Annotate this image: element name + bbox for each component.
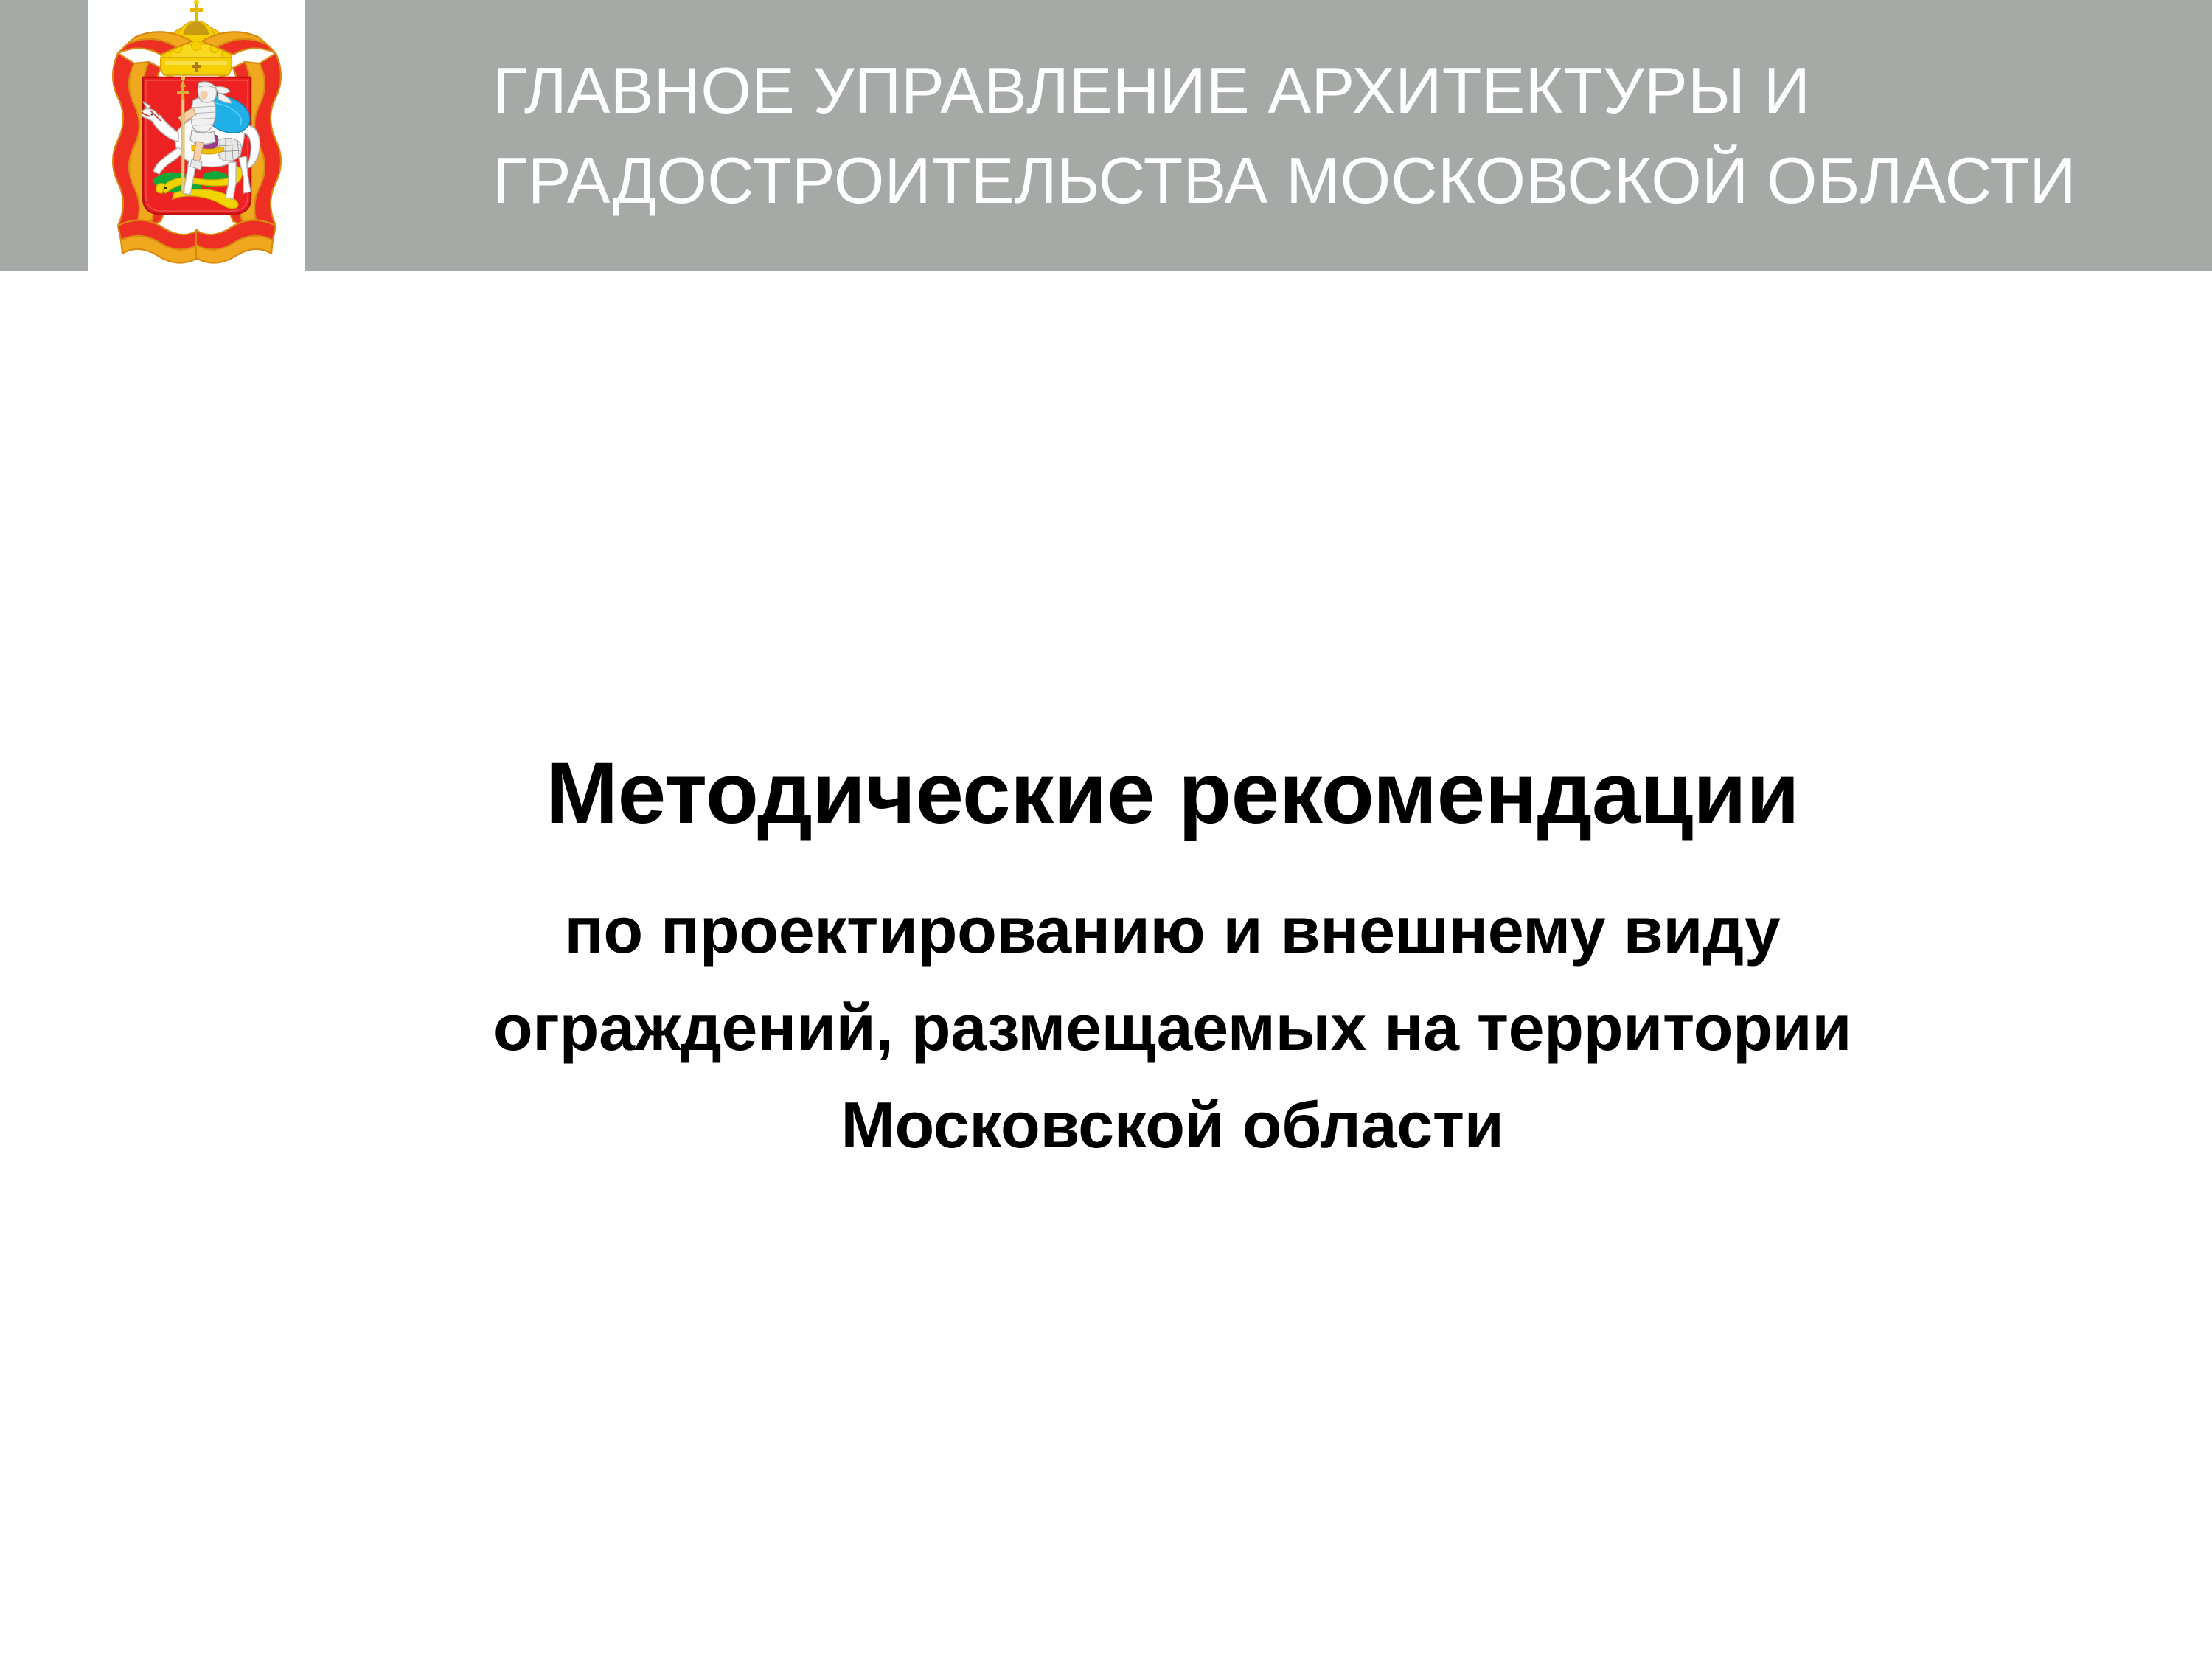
page-subtitle-line-2: ограждений, размещаемых на территории (324, 979, 2020, 1077)
page-title: Методические рекомендации (324, 743, 2020, 844)
page-subtitle-line-3: Московской области (324, 1077, 2020, 1174)
emblem-plate (88, 0, 305, 274)
organization-title-line-1: ГЛАВНОЕ УПРАВЛЕНИЕ АРХИТЕКТУРЫ И (493, 46, 2115, 136)
page-subtitle-line-1: по проектированию и внешнему виду (324, 882, 2020, 979)
organization-title: ГЛАВНОЕ УПРАВЛЕНИЕ АРХИТЕКТУРЫ И ГРАДОСТ… (493, 46, 2115, 226)
page-subtitle: по проектированию и внешнему виду огражд… (324, 882, 2020, 1174)
slide-body: Методические рекомендации по проектирова… (0, 271, 2212, 1659)
header-band: ГЛАВНОЕ УПРАВЛЕНИЕ АРХИТЕКТУРЫ И ГРАДОСТ… (0, 0, 2212, 271)
organization-title-line-2: ГРАДОСТРОИТЕЛЬСТВА МОСКОВСКОЙ ОБЛАСТИ (493, 136, 2115, 226)
coat-of-arms-moscow-oblast-icon (88, 0, 305, 274)
title-block: Методические рекомендации по проектирова… (324, 743, 2020, 1174)
